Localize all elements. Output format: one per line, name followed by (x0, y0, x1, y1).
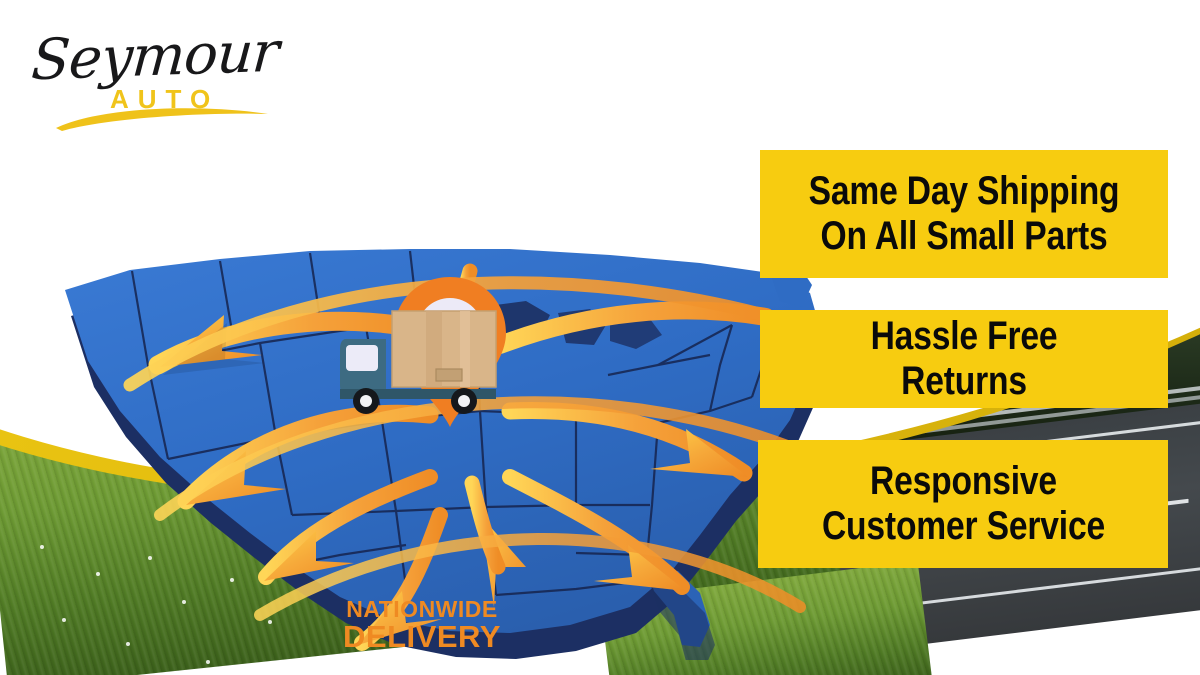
usa-map-graphic: NATIONWIDE DELIVERY (10, 215, 920, 660)
callout-text: Same Day Shipping On All Small Parts (809, 169, 1120, 259)
callout-responsive-customer-service[interactable]: Responsive Customer Service (758, 440, 1168, 568)
promo-banner: Seymour AUTO (0, 0, 1200, 675)
logo-wordmark: Seymour (29, 20, 280, 94)
callout-text: Hassle Free Returns (804, 314, 1123, 404)
callout-text: Responsive Customer Service (821, 459, 1104, 549)
logo-swoosh-icon (54, 102, 270, 132)
brand-logo[interactable]: Seymour AUTO (24, 18, 274, 128)
callout-same-day-shipping[interactable]: Same Day Shipping On All Small Parts (760, 150, 1168, 278)
callout-hassle-free-returns[interactable]: Hassle Free Returns (760, 310, 1168, 408)
